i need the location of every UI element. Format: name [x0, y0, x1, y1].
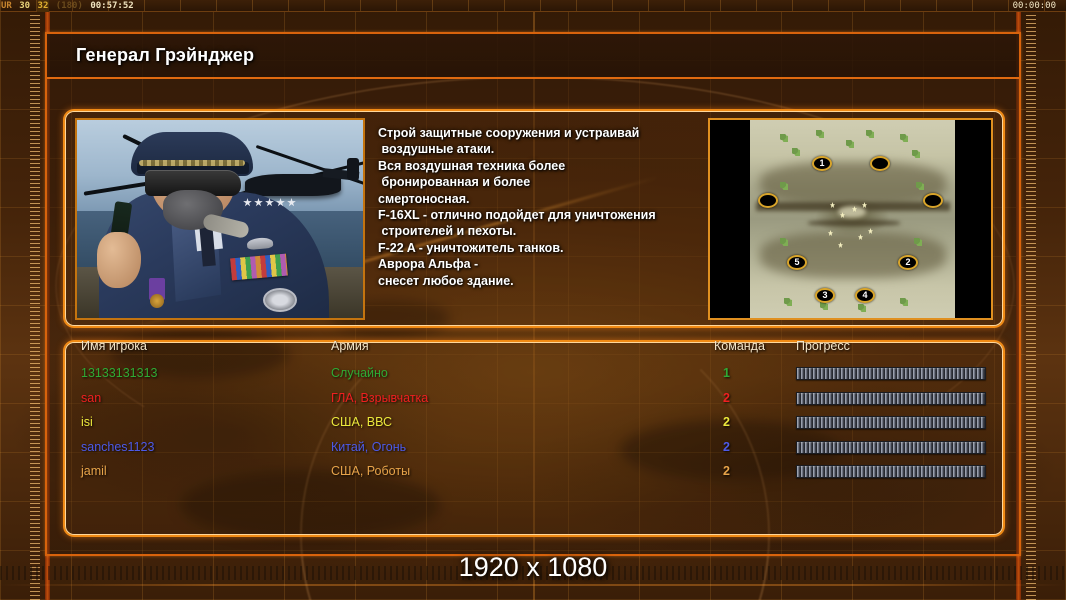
minimap-start-position-5[interactable]: 5 [787, 255, 807, 270]
minimap-trees [816, 130, 824, 138]
minimap-trees [780, 182, 788, 190]
player-progress-bar [796, 416, 986, 429]
status-right-clock: 00:00:00 [1013, 0, 1056, 12]
player-army: ГЛА, Взрывчатка [331, 391, 428, 405]
minimap-trees [820, 302, 828, 310]
minimap-trees [780, 238, 788, 246]
minimap-river [808, 220, 900, 226]
minimap-trees [916, 182, 924, 190]
minimap-trees [866, 130, 874, 138]
general-info-panel: Строй защитные сооружения и устраивай во… [65, 111, 1003, 326]
ruler-strip-left [30, 0, 40, 600]
minimap-frame: 15234 [708, 118, 993, 320]
minimap-trees [846, 140, 854, 148]
player-team: 1 [723, 366, 730, 380]
table-row[interactable]: jamilСША, Роботы2 [63, 460, 1008, 484]
minimap-trees [858, 304, 866, 312]
general-description: Строй защитные сооружения и устраивай во… [378, 125, 698, 289]
minimap-trees [914, 238, 922, 246]
header-player-name: Имя игрока [81, 339, 147, 353]
minimap-image: 15234 [750, 120, 955, 318]
player-name: 13133131313 [81, 366, 157, 380]
player-army: Случайно [331, 366, 388, 380]
player-team: 2 [723, 391, 730, 405]
minimap-trees [900, 134, 908, 142]
minimap-start-position-1[interactable]: 1 [812, 156, 832, 171]
status-value-a: 30 [18, 0, 31, 12]
helicopter-fin [347, 158, 359, 180]
player-army: США, Роботы [331, 464, 410, 478]
player-progress-bar [796, 367, 986, 380]
portrait-belt-buckle [263, 288, 297, 312]
status-elapsed-clock: 00:57:52 [89, 0, 134, 12]
status-label-ur: UR [0, 0, 13, 12]
status-value-b: 32 [37, 0, 50, 12]
header-team: Команда [714, 339, 765, 353]
minimap-trees [784, 298, 792, 306]
minimap-start-position-2[interactable]: 2 [898, 255, 918, 270]
minimap-trees [912, 150, 920, 158]
player-name: sanches1123 [81, 440, 154, 454]
player-name: san [81, 391, 101, 405]
player-army: США, ВВС [331, 415, 392, 429]
header-progress: Прогресс [796, 339, 850, 353]
resolution-overlay: 1920 x 1080 [0, 552, 1066, 583]
portrait-cap-braid [139, 160, 245, 166]
resolution-underline [0, 584, 1066, 586]
table-row[interactable]: sanГЛА, Взрывчатка2 [63, 387, 1008, 411]
player-list-headers: Имя игрока Армия Команда Прогресс [63, 339, 1008, 357]
table-row[interactable]: isiСША, ВВС2 [63, 411, 1008, 435]
player-progress-bar [796, 441, 986, 454]
player-name: isi [81, 415, 93, 429]
header-army: Армия [331, 339, 369, 353]
general-portrait [75, 118, 365, 320]
top-status-ticks [0, 0, 1066, 11]
minimap-start-position-empty[interactable] [923, 193, 943, 208]
ruler-strip-right [1026, 0, 1036, 600]
page-title: Генерал Грэйнджер [76, 45, 254, 66]
minimap-start-position-3[interactable]: 3 [815, 288, 835, 303]
minimap-start-position-4[interactable]: 4 [855, 288, 875, 303]
player-progress-bar [796, 465, 986, 478]
minimap-trees [792, 148, 800, 156]
table-row[interactable]: 13133131313Случайно1 [63, 362, 1008, 386]
player-progress-bar [796, 392, 986, 405]
portrait-hand [97, 232, 141, 288]
player-army: Китай, Огонь [331, 440, 406, 454]
player-name: jamil [81, 464, 107, 478]
window-titlebar: Генерал Грэйнджер [47, 34, 1019, 79]
portrait-medal [149, 278, 165, 300]
minimap-trees [780, 134, 788, 142]
minimap-trees [900, 298, 908, 306]
player-team: 2 [723, 440, 730, 454]
top-status-bar: UR 30 32 (180) 00:57:52 00:00:00 [0, 0, 1066, 12]
player-team: 2 [723, 415, 730, 429]
minimap-start-position-empty[interactable] [758, 193, 778, 208]
player-team: 2 [723, 464, 730, 478]
game-lobby-screen: UR 30 32 (180) 00:57:52 00:00:00 Генерал… [0, 0, 1066, 600]
portrait-rank-stars [243, 198, 301, 207]
minimap-start-position-empty[interactable] [870, 156, 890, 171]
status-value-dim: (180) [55, 0, 84, 12]
table-row[interactable]: sanches1123Китай, Огонь2 [63, 436, 1008, 460]
